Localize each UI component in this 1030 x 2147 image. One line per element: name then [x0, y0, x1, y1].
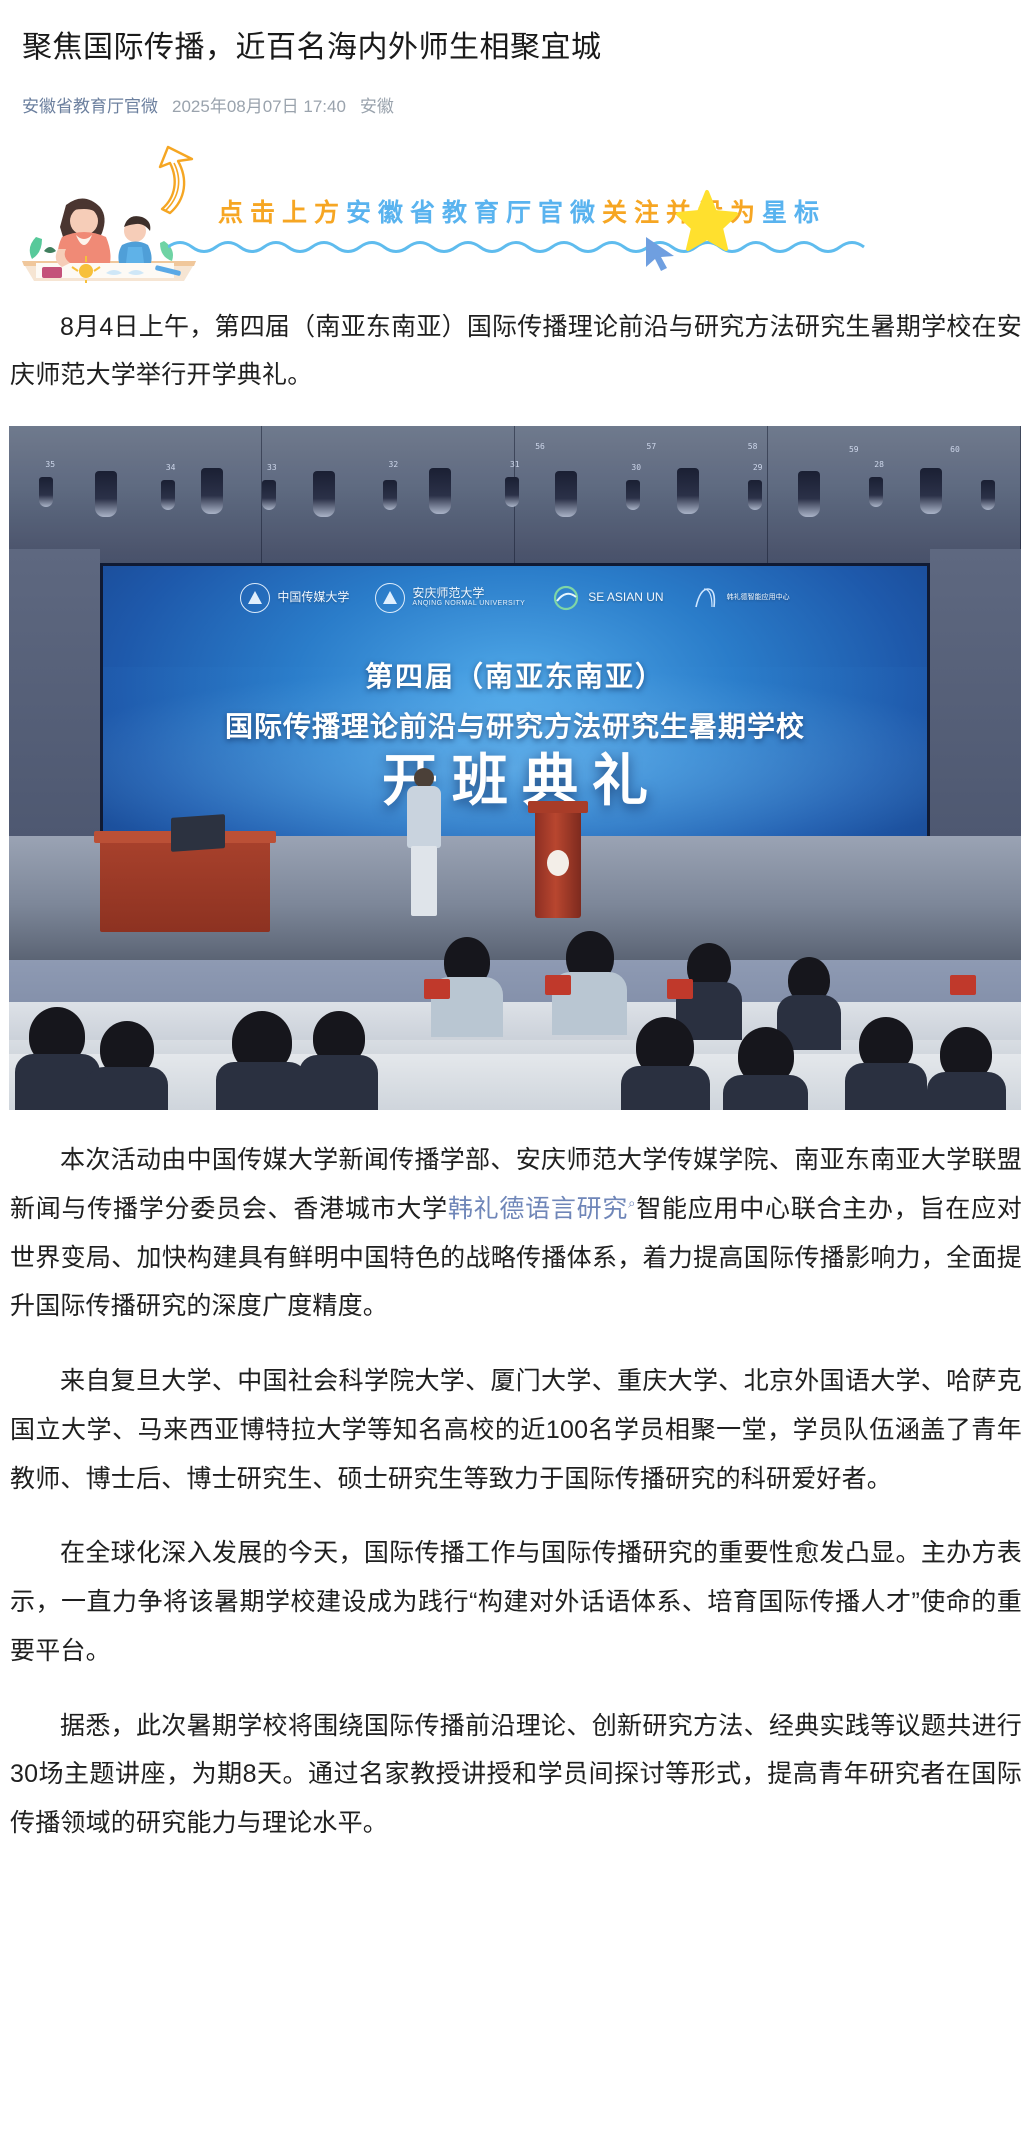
logo-halliday-label: 韩礼德智能应用中心	[727, 594, 790, 602]
laptop	[171, 814, 225, 852]
halliday-research-link[interactable]: 韩礼德语言研究	[448, 1195, 628, 1223]
article-container: 聚焦国际传播，近百名海内外师生相聚宜城 安徽省教育厅官微 2025年08月07日…	[0, 0, 1030, 1884]
logo-cuc-label: 中国传媒大学	[277, 591, 349, 605]
promo-seg-b: 安徽省教育厅官微	[346, 198, 602, 227]
article-tail-spacer	[0, 1874, 1030, 1884]
follow-promo-banner[interactable]: 点击上方安徽省教育厅官微关注并设为星标	[0, 137, 1030, 287]
search-icon[interactable]: ⌕	[628, 1195, 635, 1210]
paragraph-organizers: 本次活动由中国传媒大学新闻传播学部、安庆师范大学传媒学院、南亚东南亚大学联盟新闻…	[0, 1136, 1030, 1331]
audience-head	[636, 1017, 694, 1077]
logo-anu-label: 安庆师范大学 ANQING NORMAL UNIVERSITY	[412, 587, 525, 609]
paragraph-significance: 在全球化深入发展的今天，国际传播工作与国际传播研究的重要性愈发凸显。主办方表示，…	[0, 1529, 1030, 1675]
halliday-emblem-icon	[690, 583, 720, 613]
audience-area	[9, 905, 1021, 1110]
paragraph-schedule: 据悉，此次暑期学校将围绕国际传播前沿理论、创新研究方法、经典实践等议题共进行30…	[0, 1702, 1030, 1848]
audience-head	[940, 1027, 992, 1081]
logo-cuc: 中国传媒大学	[240, 583, 349, 613]
anu-emblem-icon	[375, 583, 405, 613]
paragraph-participants: 来自复旦大学、中国社会科学院大学、厦门大学、重庆大学、北京外国语大学、哈萨克国立…	[0, 1357, 1030, 1503]
ceremony-photo: 35 34 33 32 31 30 29 28 56 57 58 59 60	[9, 426, 1021, 1110]
podium	[535, 808, 581, 918]
audience-head	[788, 957, 830, 1003]
star-icon	[676, 189, 738, 251]
paragraph-intro: 8月4日上午，第四届（南亚东南亚）国际传播理论前沿与研究方法研究生暑期学校在安庆…	[0, 303, 1030, 401]
location-label: 安徽	[360, 92, 394, 117]
audience-head	[738, 1027, 794, 1085]
article-header: 聚焦国际传播，近百名海内外师生相聚宜城 安徽省教育厅官微 2025年08月07日…	[0, 0, 1030, 117]
ceiling-truss: 35 34 33 32 31 30 29 28 56 57 58 59 60	[9, 426, 1021, 576]
cuc-emblem-icon	[240, 583, 270, 613]
audience-head	[29, 1007, 85, 1065]
logo-halliday: 韩礼德智能应用中心	[690, 583, 790, 613]
article-meta: 安徽省教育厅官微 2025年08月07日 17:40 安徽	[22, 92, 1008, 117]
publish-timestamp: 2025年08月07日 17:40	[172, 92, 346, 117]
logo-seasian-label: SE ASIAN UN	[588, 591, 663, 605]
speaker-person	[404, 768, 444, 918]
screen-logo-row: 中国传媒大学 安庆师范大学 ANQING NORMAL UNIVERSITY	[103, 583, 927, 613]
promo-seg-a: 点击上方	[218, 198, 346, 227]
promo-seg-d: 星标	[762, 198, 826, 227]
logo-anu-cn: 安庆师范大学	[412, 586, 484, 600]
audience-head	[100, 1021, 154, 1077]
audience-head	[687, 943, 731, 991]
audience-head	[859, 1017, 913, 1073]
wave-divider-icon	[168, 237, 868, 255]
seasian-emblem-icon	[551, 583, 581, 613]
logo-anu: 安庆师范大学 ANQING NORMAL UNIVERSITY	[375, 583, 525, 613]
name-plate	[950, 975, 976, 995]
audience-head	[313, 1011, 365, 1065]
name-plate	[424, 979, 450, 999]
article-photo[interactable]: 35 34 33 32 31 30 29 28 56 57 58 59 60	[9, 426, 1021, 1110]
audience-head	[444, 937, 490, 987]
logo-anu-en: ANQING NORMAL UNIVERSITY	[412, 600, 525, 608]
page-title: 聚焦国际传播，近百名海内外师生相聚宜城	[22, 26, 1008, 70]
name-plate	[545, 975, 571, 995]
name-plate	[667, 979, 693, 999]
author-name[interactable]: 安徽省教育厅官微	[22, 92, 158, 117]
logo-seasian: SE ASIAN UN	[551, 583, 663, 613]
audience-head	[232, 1011, 292, 1073]
audience-head	[566, 931, 614, 983]
